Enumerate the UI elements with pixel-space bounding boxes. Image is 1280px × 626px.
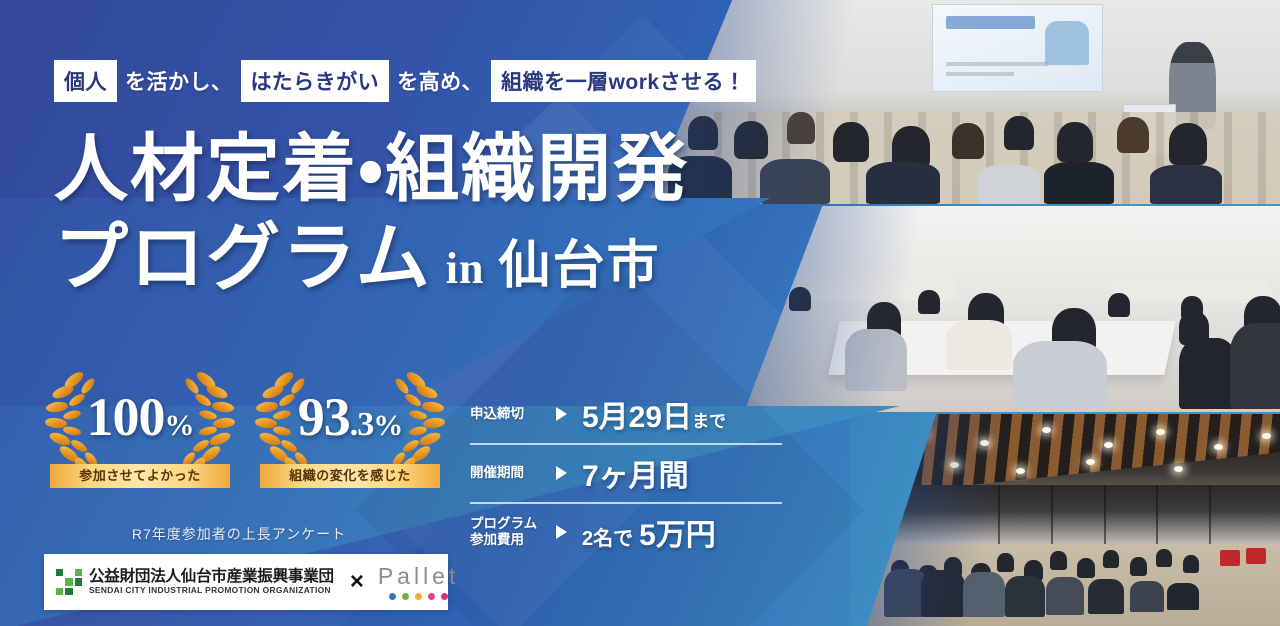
partner-logo-wordmark: Pallet <box>378 565 460 588</box>
kicker-plain-1: を活かし、 <box>123 66 235 96</box>
kicker-highlight-1: 個人 <box>54 60 117 102</box>
detail-row-fee: プログラム 参加費用 2名で5万円 <box>470 502 782 561</box>
promo-banner: 個人 を活かし、 はたらきがい を高め、 組織を一層workさせる！ 人材定着・… <box>0 0 1280 626</box>
wooden-slat-ceiling <box>866 414 1280 496</box>
stat-value: 100% <box>44 386 236 448</box>
detail-value-main: 5月29日 <box>582 401 692 434</box>
organization-name: 公益財団法人仙台市産業振興事業団 SENDAI CITY INDUSTRIAL … <box>89 568 334 596</box>
title-line-1: 人材定着・組織開発 <box>54 133 689 208</box>
title-line-2: プログラム in 仙台市 <box>54 222 689 297</box>
detail-row-deadline: 申込締切 5月29日まで <box>470 386 782 443</box>
page-title: 人材定着・組織開発 プログラム in 仙台市 <box>54 133 689 298</box>
partner-logo-dots-icon <box>378 593 460 600</box>
photo-group-discussion <box>744 206 1280 412</box>
title-city-word: 仙台市 <box>498 240 660 293</box>
triangle-right-icon <box>556 407 576 421</box>
partner-logo: Pallet <box>378 565 460 600</box>
title-in-word: in <box>446 247 485 292</box>
kicker-tagline: 個人 を活かし、 はたらきがい を高め、 組織を一層workさせる！ <box>48 60 762 102</box>
detail-value-main: 7ヶ月間 <box>582 460 689 493</box>
survey-stats: 100% 参加させてよかった <box>44 362 446 490</box>
kicker-highlight-3: 組織を一層workさせる！ <box>491 60 756 102</box>
detail-value-prefix: 2名で <box>582 528 633 550</box>
detail-label: 申込締切 <box>470 406 552 422</box>
triangle-right-icon <box>556 466 576 480</box>
detail-label-line-2: 参加費用 <box>470 532 552 548</box>
partnership-cross-icon: × <box>350 570 364 594</box>
audience-crowd <box>884 531 1262 617</box>
stat-value-decimal: .3 <box>350 406 374 443</box>
photo-seminar-presentation <box>648 0 1280 204</box>
detail-value-suffix: まで <box>692 412 726 431</box>
detail-label: 開催期間 <box>470 465 552 481</box>
stat-label: 組織の変化を感じた <box>260 464 440 488</box>
photo-workshop-scene <box>744 206 1280 412</box>
stat-value-unit: % <box>165 409 194 442</box>
logo-bar: 公益財団法人仙台市産業振興事業団 SENDAI CITY INDUSTRIAL … <box>44 554 448 610</box>
detail-row-duration: 開催期間 7ヶ月間 <box>470 443 782 502</box>
survey-source-note: R7年度参加者の上長アンケート <box>44 524 434 544</box>
stat-label: 参加させてよかった <box>50 464 230 488</box>
kicker-plain-2: を高め、 <box>395 66 485 96</box>
program-details-panel: 申込締切 5月29日まで 開催期間 7ヶ月間 プログラム 参加費用 2名で5万円 <box>470 386 782 561</box>
detail-value: 5月29日まで <box>582 392 726 436</box>
detail-value-main: 5万円 <box>639 519 716 552</box>
stat-card: 100% 参加させてよかった <box>44 362 236 490</box>
participant-figures <box>744 264 1280 412</box>
organization-name-jp: 公益財団法人仙台市産業振興事業団 <box>89 568 334 585</box>
detail-label-line-1: プログラム <box>470 516 552 532</box>
sendai-square-mark-icon <box>56 569 82 595</box>
detail-value: 7ヶ月間 <box>582 451 689 495</box>
title-program-word: プログラム <box>54 222 432 297</box>
stat-value-number: 93 <box>298 387 350 447</box>
stat-card: 93.3% 組織の変化を感じた <box>254 362 446 490</box>
organization-name-en: SENDAI CITY INDUSTRIAL PROMOTION ORGANIZ… <box>89 586 334 595</box>
stat-value-unit: % <box>373 409 402 442</box>
slide-heading-block <box>946 16 1034 30</box>
photo-seminar-scene <box>648 0 1280 204</box>
stat-value: 93.3% <box>254 386 446 448</box>
photo-auditorium-audience <box>866 414 1280 626</box>
detail-value: 2名で5万円 <box>582 510 716 554</box>
triangle-right-icon <box>556 525 576 539</box>
photo-auditorium-scene <box>866 414 1280 626</box>
stat-value-number: 100 <box>87 387 165 447</box>
detail-label: プログラム 参加費用 <box>470 516 552 549</box>
kicker-highlight-2: はたらきがい <box>241 60 390 102</box>
